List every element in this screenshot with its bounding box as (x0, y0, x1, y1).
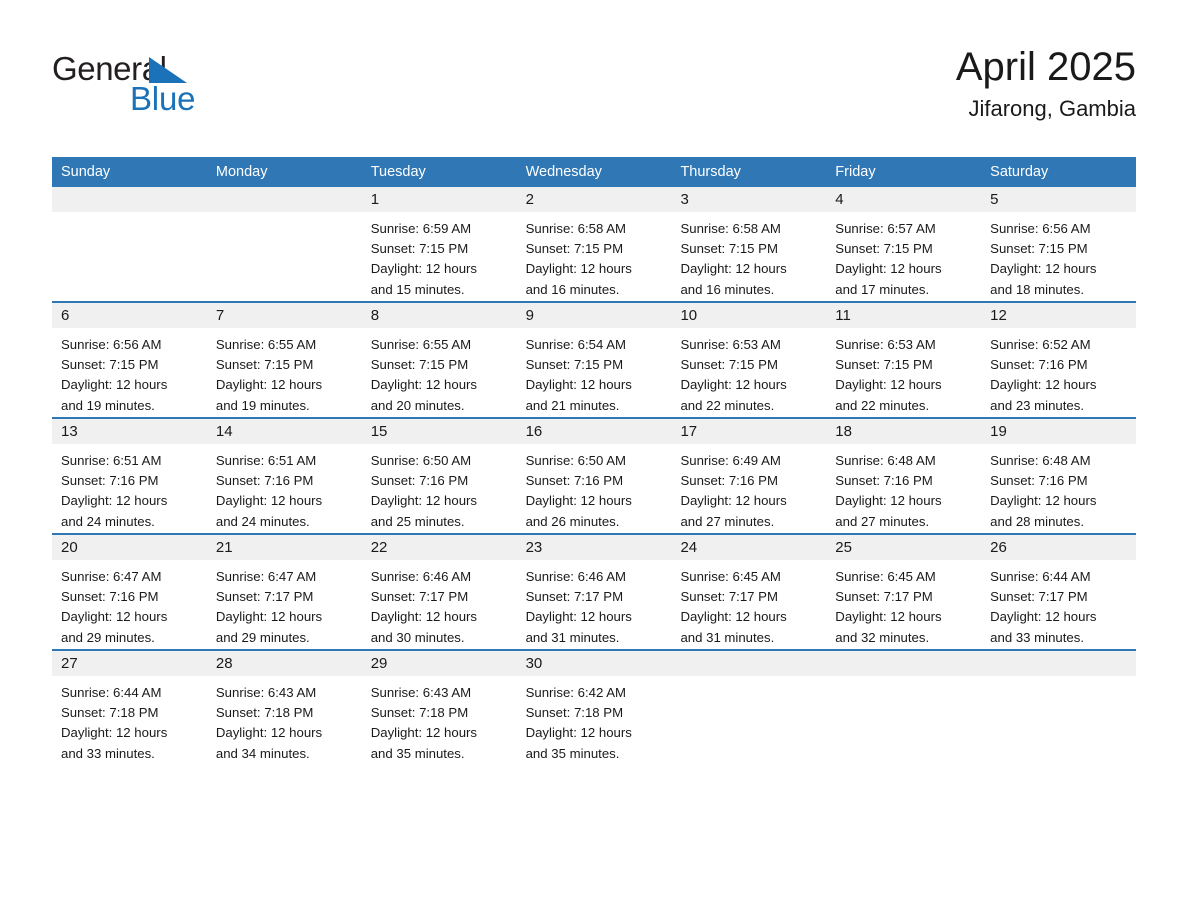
day-number-band: 6789101112 (52, 303, 1136, 328)
day-number-24[interactable]: 24 (671, 535, 826, 560)
sunset-text: Sunset: 7:17 PM (526, 587, 663, 607)
daylight-text-line2: and 20 minutes. (371, 396, 508, 416)
day-number-28[interactable]: 28 (207, 651, 362, 676)
sunrise-text: Sunrise: 6:53 AM (680, 335, 817, 355)
sunset-text: Sunset: 7:16 PM (835, 471, 972, 491)
day-number-6[interactable]: 6 (52, 303, 207, 328)
daylight-text-line1: Daylight: 12 hours (680, 491, 817, 511)
day-cell-11[interactable]: Sunrise: 6:53 AMSunset: 7:15 PMDaylight:… (826, 328, 981, 417)
sunset-text: Sunset: 7:18 PM (526, 703, 663, 723)
sunrise-text: Sunrise: 6:55 AM (216, 335, 353, 355)
daylight-text-line1: Daylight: 12 hours (680, 259, 817, 279)
sunrise-text: Sunrise: 6:52 AM (990, 335, 1127, 355)
sunset-text: Sunset: 7:16 PM (61, 587, 198, 607)
day-cell-3[interactable]: Sunrise: 6:58 AMSunset: 7:15 PMDaylight:… (671, 212, 826, 301)
daylight-text-line2: and 33 minutes. (990, 628, 1127, 648)
day-number-4[interactable]: 4 (826, 187, 981, 212)
daylight-text-line2: and 27 minutes. (680, 512, 817, 532)
daylight-text-line2: and 32 minutes. (835, 628, 972, 648)
daylight-text-line2: and 25 minutes. (371, 512, 508, 532)
day-number-empty (671, 651, 826, 676)
sunset-text: Sunset: 7:16 PM (990, 471, 1127, 491)
day-number-12[interactable]: 12 (981, 303, 1136, 328)
sunrise-text: Sunrise: 6:56 AM (990, 219, 1127, 239)
daylight-text-line2: and 26 minutes. (526, 512, 663, 532)
day-detail-band: Sunrise: 6:51 AMSunset: 7:16 PMDaylight:… (52, 444, 1136, 533)
sunset-text: Sunset: 7:15 PM (835, 355, 972, 375)
day-number-empty (207, 187, 362, 212)
daylight-text-line1: Daylight: 12 hours (61, 375, 198, 395)
daylight-text-line2: and 17 minutes. (835, 280, 972, 300)
day-number-empty (981, 651, 1136, 676)
sunrise-text: Sunrise: 6:51 AM (216, 451, 353, 471)
day-cell-17[interactable]: Sunrise: 6:49 AMSunset: 7:16 PMDaylight:… (671, 444, 826, 533)
day-cell-9[interactable]: Sunrise: 6:54 AMSunset: 7:15 PMDaylight:… (517, 328, 672, 417)
sunrise-text: Sunrise: 6:58 AM (526, 219, 663, 239)
sunrise-text: Sunrise: 6:45 AM (680, 567, 817, 587)
daylight-text-line1: Daylight: 12 hours (61, 723, 198, 743)
sunset-text: Sunset: 7:15 PM (526, 355, 663, 375)
day-cell-5[interactable]: Sunrise: 6:56 AMSunset: 7:15 PMDaylight:… (981, 212, 1136, 301)
day-number-16[interactable]: 16 (517, 419, 672, 444)
daylight-text-line1: Daylight: 12 hours (835, 491, 972, 511)
calendar-week-row: 20212223242526Sunrise: 6:47 AMSunset: 7:… (52, 533, 1136, 649)
sunrise-text: Sunrise: 6:54 AM (526, 335, 663, 355)
day-number-29[interactable]: 29 (362, 651, 517, 676)
calendar-table: SundayMondayTuesdayWednesdayThursdayFrid… (52, 157, 1136, 765)
daylight-text-line1: Daylight: 12 hours (526, 491, 663, 511)
day-number-20[interactable]: 20 (52, 535, 207, 560)
daylight-text-line2: and 31 minutes. (680, 628, 817, 648)
day-number-band: 20212223242526 (52, 535, 1136, 560)
day-cell-21[interactable]: Sunrise: 6:47 AMSunset: 7:17 PMDaylight:… (207, 560, 362, 649)
daylight-text-line1: Daylight: 12 hours (990, 259, 1127, 279)
sunrise-text: Sunrise: 6:45 AM (835, 567, 972, 587)
daylight-text-line2: and 24 minutes. (216, 512, 353, 532)
sunrise-text: Sunrise: 6:55 AM (371, 335, 508, 355)
daylight-text-line2: and 16 minutes. (526, 280, 663, 300)
daylight-text-line1: Daylight: 12 hours (371, 607, 508, 627)
day-cell-16[interactable]: Sunrise: 6:50 AMSunset: 7:16 PMDaylight:… (517, 444, 672, 533)
sunset-text: Sunset: 7:16 PM (990, 355, 1127, 375)
sunrise-text: Sunrise: 6:58 AM (680, 219, 817, 239)
sunset-text: Sunset: 7:15 PM (835, 239, 972, 259)
daylight-text-line1: Daylight: 12 hours (526, 375, 663, 395)
sunrise-text: Sunrise: 6:46 AM (526, 567, 663, 587)
daylight-text-line1: Daylight: 12 hours (835, 375, 972, 395)
sunset-text: Sunset: 7:15 PM (680, 355, 817, 375)
weekday-header-row: SundayMondayTuesdayWednesdayThursdayFrid… (52, 157, 1136, 187)
day-number-empty (826, 651, 981, 676)
calendar-page: General Blue April 2025 Jifarong, Gambia… (0, 0, 1188, 918)
weekday-header-tuesday: Tuesday (362, 165, 517, 180)
weekday-header-saturday: Saturday (981, 165, 1136, 180)
day-number-5[interactable]: 5 (981, 187, 1136, 212)
daylight-text-line1: Daylight: 12 hours (680, 607, 817, 627)
sunset-text: Sunset: 7:17 PM (835, 587, 972, 607)
sunrise-text: Sunrise: 6:47 AM (216, 567, 353, 587)
day-cell-empty (671, 676, 826, 765)
day-number-14[interactable]: 14 (207, 419, 362, 444)
sunset-text: Sunset: 7:16 PM (371, 471, 508, 491)
sunset-text: Sunset: 7:15 PM (990, 239, 1127, 259)
sunrise-text: Sunrise: 6:50 AM (526, 451, 663, 471)
daylight-text-line1: Daylight: 12 hours (526, 607, 663, 627)
day-cell-30[interactable]: Sunrise: 6:42 AMSunset: 7:18 PMDaylight:… (517, 676, 672, 765)
day-number-7[interactable]: 7 (207, 303, 362, 328)
calendar-week-row: 27282930Sunrise: 6:44 AMSunset: 7:18 PMD… (52, 649, 1136, 765)
calendar-week-row: 6789101112Sunrise: 6:56 AMSunset: 7:15 P… (52, 301, 1136, 417)
day-cell-12[interactable]: Sunrise: 6:52 AMSunset: 7:16 PMDaylight:… (981, 328, 1136, 417)
day-cell-8[interactable]: Sunrise: 6:55 AMSunset: 7:15 PMDaylight:… (362, 328, 517, 417)
day-cell-20[interactable]: Sunrise: 6:47 AMSunset: 7:16 PMDaylight:… (52, 560, 207, 649)
daylight-text-line1: Daylight: 12 hours (835, 607, 972, 627)
sunset-text: Sunset: 7:17 PM (680, 587, 817, 607)
daylight-text-line2: and 22 minutes. (680, 396, 817, 416)
daylight-text-line2: and 34 minutes. (216, 744, 353, 764)
sunrise-text: Sunrise: 6:56 AM (61, 335, 198, 355)
sunrise-text: Sunrise: 6:43 AM (216, 683, 353, 703)
daylight-text-line1: Daylight: 12 hours (371, 259, 508, 279)
sunset-text: Sunset: 7:15 PM (216, 355, 353, 375)
day-cell-23[interactable]: Sunrise: 6:46 AMSunset: 7:17 PMDaylight:… (517, 560, 672, 649)
title-block: April 2025 Jifarong, Gambia (956, 46, 1136, 121)
sunrise-text: Sunrise: 6:49 AM (680, 451, 817, 471)
daylight-text-line2: and 19 minutes. (216, 396, 353, 416)
daylight-text-line1: Daylight: 12 hours (835, 259, 972, 279)
calendar-week-row: 13141516171819Sunrise: 6:51 AMSunset: 7:… (52, 417, 1136, 533)
day-number-band: 13141516171819 (52, 419, 1136, 444)
daylight-text-line2: and 33 minutes. (61, 744, 198, 764)
sunset-text: Sunset: 7:15 PM (680, 239, 817, 259)
day-cell-27[interactable]: Sunrise: 6:44 AMSunset: 7:18 PMDaylight:… (52, 676, 207, 765)
daylight-text-line2: and 15 minutes. (371, 280, 508, 300)
sunset-text: Sunset: 7:17 PM (371, 587, 508, 607)
day-cell-22[interactable]: Sunrise: 6:46 AMSunset: 7:17 PMDaylight:… (362, 560, 517, 649)
daylight-text-line2: and 31 minutes. (526, 628, 663, 648)
daylight-text-line2: and 22 minutes. (835, 396, 972, 416)
sunset-text: Sunset: 7:18 PM (61, 703, 198, 723)
day-number-9[interactable]: 9 (517, 303, 672, 328)
day-cell-28[interactable]: Sunrise: 6:43 AMSunset: 7:18 PMDaylight:… (207, 676, 362, 765)
sunset-text: Sunset: 7:15 PM (526, 239, 663, 259)
day-number-band: 12345 (52, 187, 1136, 212)
day-number-17[interactable]: 17 (671, 419, 826, 444)
calendar-week-row: 12345Sunrise: 6:59 AMSunset: 7:15 PMDayl… (52, 187, 1136, 301)
day-number-30[interactable]: 30 (517, 651, 672, 676)
daylight-text-line2: and 35 minutes. (371, 744, 508, 764)
day-number-18[interactable]: 18 (826, 419, 981, 444)
daylight-text-line2: and 35 minutes. (526, 744, 663, 764)
sunrise-text: Sunrise: 6:48 AM (990, 451, 1127, 471)
sunset-text: Sunset: 7:17 PM (990, 587, 1127, 607)
daylight-text-line1: Daylight: 12 hours (680, 375, 817, 395)
daylight-text-line2: and 19 minutes. (61, 396, 198, 416)
day-detail-band: Sunrise: 6:47 AMSunset: 7:16 PMDaylight:… (52, 560, 1136, 649)
sunset-text: Sunset: 7:18 PM (371, 703, 508, 723)
daylight-text-line1: Daylight: 12 hours (216, 723, 353, 743)
daylight-text-line2: and 30 minutes. (371, 628, 508, 648)
day-number-22[interactable]: 22 (362, 535, 517, 560)
logo-word-blue: Blue (130, 82, 195, 115)
daylight-text-line2: and 21 minutes. (526, 396, 663, 416)
day-number-3[interactable]: 3 (671, 187, 826, 212)
daylight-text-line2: and 28 minutes. (990, 512, 1127, 532)
day-cell-25[interactable]: Sunrise: 6:45 AMSunset: 7:17 PMDaylight:… (826, 560, 981, 649)
day-detail-band: Sunrise: 6:44 AMSunset: 7:18 PMDaylight:… (52, 676, 1136, 765)
day-cell-29[interactable]: Sunrise: 6:43 AMSunset: 7:18 PMDaylight:… (362, 676, 517, 765)
daylight-text-line1: Daylight: 12 hours (526, 259, 663, 279)
weekday-header-friday: Friday (826, 165, 981, 180)
day-number-23[interactable]: 23 (517, 535, 672, 560)
location-subtitle: Jifarong, Gambia (956, 97, 1136, 121)
weekday-header-wednesday: Wednesday (517, 165, 672, 180)
day-cell-15[interactable]: Sunrise: 6:50 AMSunset: 7:16 PMDaylight:… (362, 444, 517, 533)
day-cell-19[interactable]: Sunrise: 6:48 AMSunset: 7:16 PMDaylight:… (981, 444, 1136, 533)
day-number-8[interactable]: 8 (362, 303, 517, 328)
sunset-text: Sunset: 7:16 PM (680, 471, 817, 491)
daylight-text-line1: Daylight: 12 hours (216, 607, 353, 627)
day-detail-band: Sunrise: 6:56 AMSunset: 7:15 PMDaylight:… (52, 328, 1136, 417)
daylight-text-line1: Daylight: 12 hours (526, 723, 663, 743)
day-cell-2[interactable]: Sunrise: 6:58 AMSunset: 7:15 PMDaylight:… (517, 212, 672, 301)
general-blue-logo[interactable]: General Blue (52, 46, 202, 122)
day-cell-empty (826, 676, 981, 765)
day-cell-26[interactable]: Sunrise: 6:44 AMSunset: 7:17 PMDaylight:… (981, 560, 1136, 649)
day-cell-empty (981, 676, 1136, 765)
sunset-text: Sunset: 7:18 PM (216, 703, 353, 723)
sunset-text: Sunset: 7:15 PM (371, 355, 508, 375)
daylight-text-line1: Daylight: 12 hours (61, 607, 198, 627)
day-number-empty (52, 187, 207, 212)
day-cell-10[interactable]: Sunrise: 6:53 AMSunset: 7:15 PMDaylight:… (671, 328, 826, 417)
sunrise-text: Sunrise: 6:48 AM (835, 451, 972, 471)
sunset-text: Sunset: 7:15 PM (371, 239, 508, 259)
daylight-text-line2: and 23 minutes. (990, 396, 1127, 416)
daylight-text-line1: Daylight: 12 hours (371, 375, 508, 395)
sunrise-text: Sunrise: 6:44 AM (61, 683, 198, 703)
daylight-text-line1: Daylight: 12 hours (990, 607, 1127, 627)
day-number-band: 27282930 (52, 651, 1136, 676)
day-number-19[interactable]: 19 (981, 419, 1136, 444)
sunset-text: Sunset: 7:16 PM (61, 471, 198, 491)
daylight-text-line2: and 18 minutes. (990, 280, 1127, 300)
day-cell-7[interactable]: Sunrise: 6:55 AMSunset: 7:15 PMDaylight:… (207, 328, 362, 417)
day-number-26[interactable]: 26 (981, 535, 1136, 560)
daylight-text-line2: and 29 minutes. (216, 628, 353, 648)
day-cell-14[interactable]: Sunrise: 6:51 AMSunset: 7:16 PMDaylight:… (207, 444, 362, 533)
sunrise-text: Sunrise: 6:50 AM (371, 451, 508, 471)
day-cell-6[interactable]: Sunrise: 6:56 AMSunset: 7:15 PMDaylight:… (52, 328, 207, 417)
day-cell-18[interactable]: Sunrise: 6:48 AMSunset: 7:16 PMDaylight:… (826, 444, 981, 533)
day-cell-1[interactable]: Sunrise: 6:59 AMSunset: 7:15 PMDaylight:… (362, 212, 517, 301)
daylight-text-line1: Daylight: 12 hours (216, 375, 353, 395)
sunset-text: Sunset: 7:16 PM (216, 471, 353, 491)
day-cell-4[interactable]: Sunrise: 6:57 AMSunset: 7:15 PMDaylight:… (826, 212, 981, 301)
sunrise-text: Sunrise: 6:46 AM (371, 567, 508, 587)
day-number-2[interactable]: 2 (517, 187, 672, 212)
sunset-text: Sunset: 7:16 PM (526, 471, 663, 491)
daylight-text-line2: and 27 minutes. (835, 512, 972, 532)
daylight-text-line2: and 16 minutes. (680, 280, 817, 300)
sunrise-text: Sunrise: 6:51 AM (61, 451, 198, 471)
day-cell-empty (52, 212, 207, 301)
daylight-text-line1: Daylight: 12 hours (216, 491, 353, 511)
calendar-body: 12345Sunrise: 6:59 AMSunset: 7:15 PMDayl… (52, 187, 1136, 765)
sunset-text: Sunset: 7:17 PM (216, 587, 353, 607)
day-number-1[interactable]: 1 (362, 187, 517, 212)
daylight-text-line2: and 24 minutes. (61, 512, 198, 532)
day-number-21[interactable]: 21 (207, 535, 362, 560)
day-cell-empty (207, 212, 362, 301)
daylight-text-line1: Daylight: 12 hours (990, 375, 1127, 395)
daylight-text-line1: Daylight: 12 hours (61, 491, 198, 511)
sunrise-text: Sunrise: 6:57 AM (835, 219, 972, 239)
day-number-10[interactable]: 10 (671, 303, 826, 328)
sunrise-text: Sunrise: 6:47 AM (61, 567, 198, 587)
day-number-25[interactable]: 25 (826, 535, 981, 560)
daylight-text-line1: Daylight: 12 hours (990, 491, 1127, 511)
sunrise-text: Sunrise: 6:42 AM (526, 683, 663, 703)
page-header: General Blue April 2025 Jifarong, Gambia (52, 0, 1136, 104)
daylight-text-line1: Daylight: 12 hours (371, 491, 508, 511)
day-number-15[interactable]: 15 (362, 419, 517, 444)
weekday-header-sunday: Sunday (52, 165, 207, 180)
day-detail-band: Sunrise: 6:59 AMSunset: 7:15 PMDaylight:… (52, 212, 1136, 301)
daylight-text-line1: Daylight: 12 hours (371, 723, 508, 743)
daylight-text-line2: and 29 minutes. (61, 628, 198, 648)
weekday-header-monday: Monday (207, 165, 362, 180)
day-cell-24[interactable]: Sunrise: 6:45 AMSunset: 7:17 PMDaylight:… (671, 560, 826, 649)
day-number-13[interactable]: 13 (52, 419, 207, 444)
day-number-27[interactable]: 27 (52, 651, 207, 676)
day-cell-13[interactable]: Sunrise: 6:51 AMSunset: 7:16 PMDaylight:… (52, 444, 207, 533)
sunrise-text: Sunrise: 6:59 AM (371, 219, 508, 239)
weekday-header-thursday: Thursday (671, 165, 826, 180)
sunrise-text: Sunrise: 6:53 AM (835, 335, 972, 355)
page-title: April 2025 (956, 46, 1136, 89)
sunrise-text: Sunrise: 6:43 AM (371, 683, 508, 703)
day-number-11[interactable]: 11 (826, 303, 981, 328)
sunrise-text: Sunrise: 6:44 AM (990, 567, 1127, 587)
sunset-text: Sunset: 7:15 PM (61, 355, 198, 375)
